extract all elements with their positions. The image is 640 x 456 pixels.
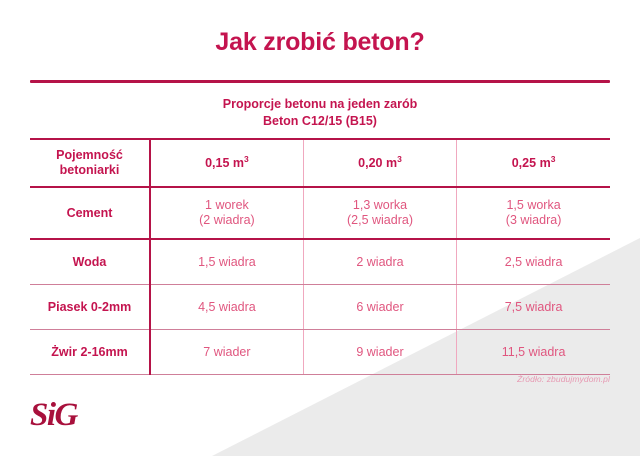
- header-col-2-exponent: 3: [397, 153, 402, 163]
- cell-zwir-025: 11,5 wiadra: [457, 330, 610, 375]
- header-col-3-value: 0,25: [512, 156, 536, 170]
- header-col-3: 0,25 m3: [457, 139, 610, 187]
- header-col-2-value: 0,20: [358, 156, 382, 170]
- infographic-canvas: Jak zrobić beton? Proporcje betonu na je…: [0, 0, 640, 456]
- header-col-2: 0,20 m3: [303, 139, 456, 187]
- header-col-1-unit: m: [233, 156, 244, 170]
- subtitle-line-2: Beton C12/15 (B15): [0, 113, 640, 130]
- header-label-cell: Pojemność betoniarki: [30, 139, 150, 187]
- infographic-content: Jak zrobić beton? Proporcje betonu na je…: [0, 0, 640, 456]
- header-col-1: 0,15 m3: [150, 139, 303, 187]
- sig-logo-wordmark: SiG: [30, 398, 104, 432]
- cell-zwir-020: 9 wiader: [303, 330, 456, 375]
- cell-cement-025-line-2: (3 wiadra): [457, 213, 610, 228]
- cell-piasek-025: 7,5 wiadra: [457, 285, 610, 330]
- table-row: Woda 1,5 wiadra 2 wiadra 2,5 wiadra: [30, 239, 610, 285]
- table-row: Cement 1 worek (2 wiadra) 1,3 worka (2,5…: [30, 187, 610, 239]
- title-divider: [30, 80, 610, 83]
- header-col-1-value: 0,15: [205, 156, 229, 170]
- table-header-row: Pojemność betoniarki 0,15 m3 0,20 m3 0: [30, 139, 610, 187]
- row-label-woda: Woda: [30, 239, 150, 285]
- cell-cement-020-line-2: (2,5 wiadra): [304, 213, 456, 228]
- cell-cement-015-line-1: 1 worek: [151, 198, 303, 213]
- table-row: Żwir 2-16mm 7 wiader 9 wiader 11,5 wiadr…: [30, 330, 610, 375]
- cell-cement-025: 1,5 worka (3 wiadra): [457, 187, 610, 239]
- cell-cement-025-line-1: 1,5 worka: [457, 198, 610, 213]
- cell-cement-015-line-2: (2 wiadra): [151, 213, 303, 228]
- row-label-cement: Cement: [30, 187, 150, 239]
- cell-piasek-020: 6 wiader: [303, 285, 456, 330]
- cell-woda-020: 2 wiadra: [303, 239, 456, 285]
- row-label-zwir: Żwir 2-16mm: [30, 330, 150, 375]
- cell-cement-020: 1,3 worka (2,5 wiadra): [303, 187, 456, 239]
- header-col-3-exponent: 3: [551, 153, 556, 163]
- header-col-1-exponent: 3: [244, 153, 249, 163]
- header-label-line-2: betoniarki: [30, 163, 149, 178]
- sig-logo: SiG: [30, 398, 104, 432]
- source-note: Źródło: zbudujmydom.pl: [517, 374, 610, 384]
- header-col-3-unit: m: [540, 156, 551, 170]
- row-label-piasek: Piasek 0-2mm: [30, 285, 150, 330]
- cell-woda-025: 2,5 wiadra: [457, 239, 610, 285]
- cell-woda-015: 1,5 wiadra: [150, 239, 303, 285]
- subtitle-block: Proporcje betonu na jeden zarób Beton C1…: [0, 96, 640, 130]
- proportions-table-wrapper: Pojemność betoniarki 0,15 m3 0,20 m3 0: [30, 138, 610, 375]
- cell-cement-020-line-1: 1,3 worka: [304, 198, 456, 213]
- page-title: Jak zrobić beton?: [0, 28, 640, 57]
- header-label-line-1: Pojemność: [30, 148, 149, 163]
- cell-piasek-015: 4,5 wiadra: [150, 285, 303, 330]
- subtitle-line-1: Proporcje betonu na jeden zarób: [223, 97, 417, 111]
- table-row: Piasek 0-2mm 4,5 wiadra 6 wiader 7,5 wia…: [30, 285, 610, 330]
- header-col-2-unit: m: [386, 156, 397, 170]
- proportions-table: Pojemność betoniarki 0,15 m3 0,20 m3 0: [30, 138, 610, 375]
- cell-zwir-015: 7 wiader: [150, 330, 303, 375]
- cell-cement-015: 1 worek (2 wiadra): [150, 187, 303, 239]
